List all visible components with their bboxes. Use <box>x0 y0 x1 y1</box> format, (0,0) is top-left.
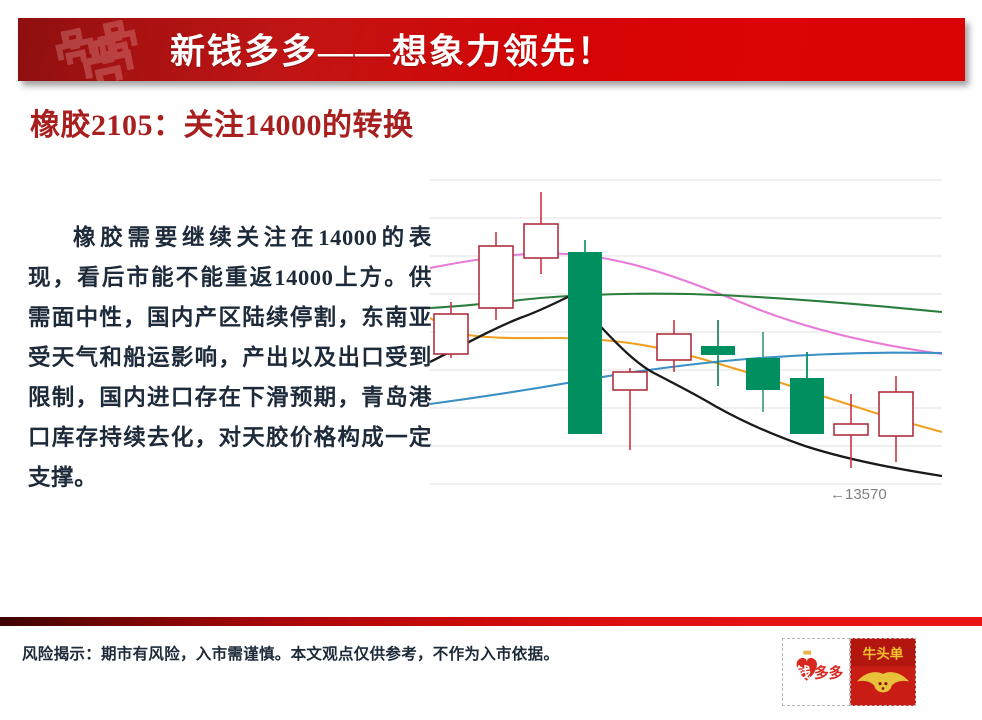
candle-5 <box>613 368 647 450</box>
bull-head-stamp-icon: 牛头单 <box>850 638 916 706</box>
page-title: 橡胶2105：关注14000的转换 <box>30 104 430 148</box>
header-title: 新钱多多——想象力领先！ <box>170 23 614 74</box>
risk-disclaimer: 风险揭示：期市有风险，入市需谨慎。本文观点仅供参考，不作为入市依据。 <box>22 642 559 664</box>
candle-9 <box>790 352 824 434</box>
header-banner: 新钱多多——想象力领先！ <box>18 18 965 81</box>
candlestick-chart: ←13570 <box>430 172 942 508</box>
chart-gridlines <box>430 180 942 484</box>
candle-11 <box>879 376 913 462</box>
candle-4 <box>568 240 602 434</box>
candle-8 <box>746 332 780 412</box>
candle-7 <box>701 320 735 386</box>
heart-qianduoduo-stamp-icon: 钱 多多 <box>782 638 850 706</box>
body-paragraph: 橡胶需要继续关注在14000的表现，看后市能不能重返14000上方。供需面中性，… <box>28 218 432 498</box>
chart-candles <box>434 192 913 468</box>
svg-text:钱: 钱 <box>796 664 811 682</box>
ma-line-black <box>430 297 942 476</box>
chinese-knot-emblem-icon <box>36 20 154 81</box>
price-annotation: ←13570 <box>830 486 887 503</box>
svg-text:多多: 多多 <box>814 664 844 682</box>
candle-2 <box>479 232 513 320</box>
candle-3 <box>524 192 558 274</box>
candle-1 <box>434 302 468 358</box>
slide-root: 新钱多多——想象力领先！ 橡胶2105：关注14000的转换 橡胶需要继续关注在… <box>0 0 982 720</box>
footer-logos: 钱 多多 牛头单 <box>782 638 916 706</box>
footer-divider <box>0 617 982 626</box>
svg-text:牛头单: 牛头单 <box>863 645 904 661</box>
